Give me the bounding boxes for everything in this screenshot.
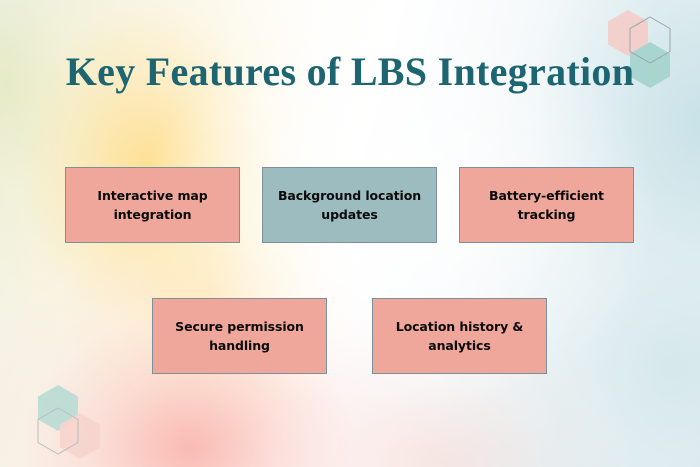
feature-box-interactive-map-integration[interactable]: Interactive map integration (65, 167, 240, 243)
feature-box-battery-efficient-tracking[interactable]: Battery-efficient tracking (459, 167, 634, 243)
feature-box-background-location-updates[interactable]: Background location updates (262, 167, 437, 243)
feature-box-label: Interactive map integration (76, 186, 229, 225)
feature-box-label: Battery-efficient tracking (470, 186, 623, 225)
feature-box-label: Location history & analytics (383, 317, 536, 356)
hexagon-teal-icon (38, 385, 78, 431)
hexagon-outline-icon (38, 408, 78, 454)
feature-box-label: Secure permission handling (163, 317, 316, 356)
slide-canvas: Key Features of LBS Integration Interact… (0, 0, 700, 467)
hexagon-cluster-bottom-left (32, 383, 104, 465)
feature-box-secure-permission-handling[interactable]: Secure permission handling (152, 298, 327, 374)
feature-box-location-history-analytics[interactable]: Location history & analytics (372, 298, 547, 374)
feature-box-label: Background location updates (273, 186, 426, 225)
page-title: Key Features of LBS Integration (0, 50, 700, 94)
hexagon-pink-icon (60, 413, 100, 459)
